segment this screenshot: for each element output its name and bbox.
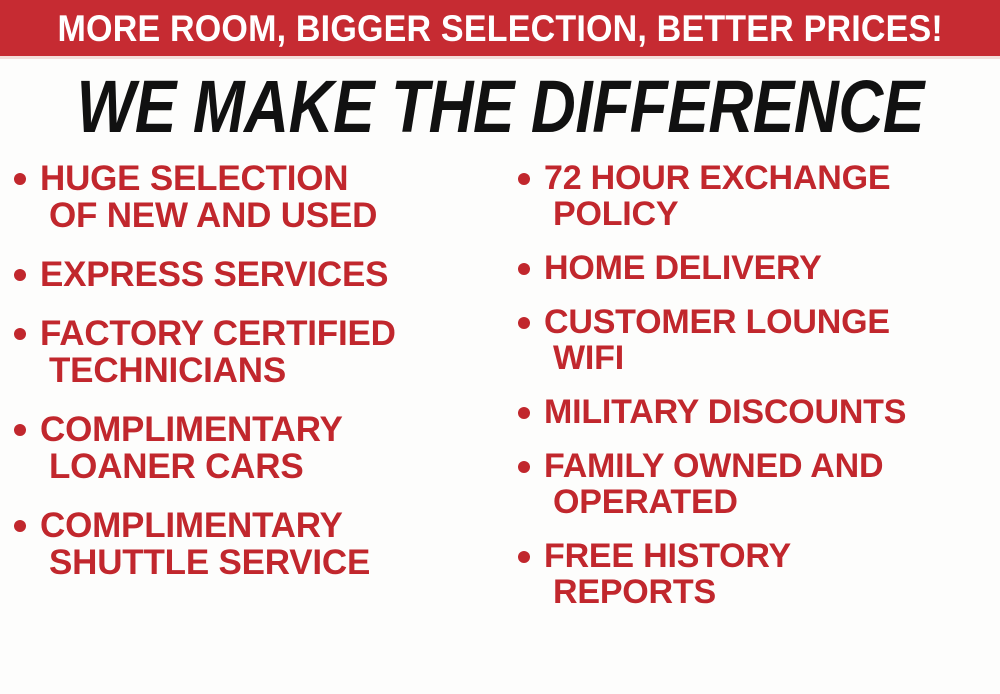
bullet-dot-icon — [14, 269, 26, 281]
benefit-item: EXPRESS SERVICES — [14, 256, 500, 293]
benefits-column-left: HUGE SELECTIONOF NEW AND USEDEXPRESS SER… — [14, 160, 500, 603]
benefit-item-line: HOME DELIVERY — [544, 250, 1000, 286]
benefits-column-right: 72 HOUR EXCHANGEPOLICYHOME DELIVERYCUSTO… — [518, 160, 1000, 628]
banner-headline-text: MORE ROOM, BIGGER SELECTION, BETTER PRIC… — [57, 10, 942, 47]
benefit-item-line: CUSTOMER LOUNGE — [544, 304, 1000, 340]
benefit-item-line: REPORTS — [544, 574, 1000, 610]
benefit-item-line: POLICY — [544, 196, 1000, 232]
benefit-item: CUSTOMER LOUNGEWIFI — [518, 304, 1000, 376]
benefit-item-line: TECHNICIANS — [40, 352, 500, 389]
benefit-item-text: FAMILY OWNED ANDOPERATED — [544, 448, 1000, 520]
bullet-dot-icon — [518, 407, 530, 419]
benefit-item-text: HOME DELIVERY — [544, 250, 1000, 286]
bullet-dot-icon — [14, 328, 26, 340]
benefit-item-line: 72 HOUR EXCHANGE — [544, 160, 1000, 196]
benefit-item-line: FACTORY CERTIFIED — [40, 315, 500, 352]
benefit-item: COMPLIMENTARYLOANER CARS — [14, 411, 500, 485]
benefit-item: MILITARY DISCOUNTS — [518, 394, 1000, 430]
benefit-item-line: COMPLIMENTARY — [40, 507, 500, 544]
benefit-item-line: COMPLIMENTARY — [40, 411, 500, 448]
top-banner: MORE ROOM, BIGGER SELECTION, BETTER PRIC… — [0, 0, 1000, 56]
main-headline-text: WE MAKE THE DIFFERENCE — [76, 70, 923, 144]
benefit-item-line: FREE HISTORY — [544, 538, 1000, 574]
benefit-item-line: OPERATED — [544, 484, 1000, 520]
benefit-item: HUGE SELECTIONOF NEW AND USED — [14, 160, 500, 234]
benefit-item-line: OF NEW AND USED — [40, 197, 500, 234]
bullet-dot-icon — [14, 173, 26, 185]
benefit-item-line: WIFI — [544, 340, 1000, 376]
bullet-dot-icon — [518, 317, 530, 329]
bullet-dot-icon — [518, 263, 530, 275]
benefit-item-line: SHUTTLE SERVICE — [40, 544, 500, 581]
benefit-item-line: LOANER CARS — [40, 448, 500, 485]
benefit-item-text: COMPLIMENTARYSHUTTLE SERVICE — [40, 507, 500, 581]
main-headline: WE MAKE THE DIFFERENCE — [0, 66, 1000, 148]
banner-underline-divider — [0, 56, 1000, 59]
benefit-item-text: MILITARY DISCOUNTS — [544, 394, 1000, 430]
benefit-item-text: 72 HOUR EXCHANGEPOLICY — [544, 160, 1000, 232]
bullet-dot-icon — [14, 424, 26, 436]
benefit-item-text: FACTORY CERTIFIEDTECHNICIANS — [40, 315, 500, 389]
benefit-item-text: HUGE SELECTIONOF NEW AND USED — [40, 160, 500, 234]
bullet-dot-icon — [518, 461, 530, 473]
benefit-item: FAMILY OWNED ANDOPERATED — [518, 448, 1000, 520]
benefit-item: 72 HOUR EXCHANGEPOLICY — [518, 160, 1000, 232]
benefit-item-text: CUSTOMER LOUNGEWIFI — [544, 304, 1000, 376]
benefit-item-text: COMPLIMENTARYLOANER CARS — [40, 411, 500, 485]
benefit-item-line: FAMILY OWNED AND — [544, 448, 1000, 484]
benefit-item-text: EXPRESS SERVICES — [40, 256, 500, 293]
benefit-item: FACTORY CERTIFIEDTECHNICIANS — [14, 315, 500, 389]
benefit-item: FREE HISTORYREPORTS — [518, 538, 1000, 610]
bullet-dot-icon — [518, 551, 530, 563]
bullet-dot-icon — [14, 520, 26, 532]
bullet-dot-icon — [518, 173, 530, 185]
benefit-item-line: EXPRESS SERVICES — [40, 256, 500, 293]
benefit-item-text: FREE HISTORYREPORTS — [544, 538, 1000, 610]
benefit-item-line: MILITARY DISCOUNTS — [544, 394, 1000, 430]
benefit-item: COMPLIMENTARYSHUTTLE SERVICE — [14, 507, 500, 581]
promo-poster: MORE ROOM, BIGGER SELECTION, BETTER PRIC… — [0, 0, 1000, 694]
benefit-item: HOME DELIVERY — [518, 250, 1000, 286]
benefit-item-line: HUGE SELECTION — [40, 160, 500, 197]
